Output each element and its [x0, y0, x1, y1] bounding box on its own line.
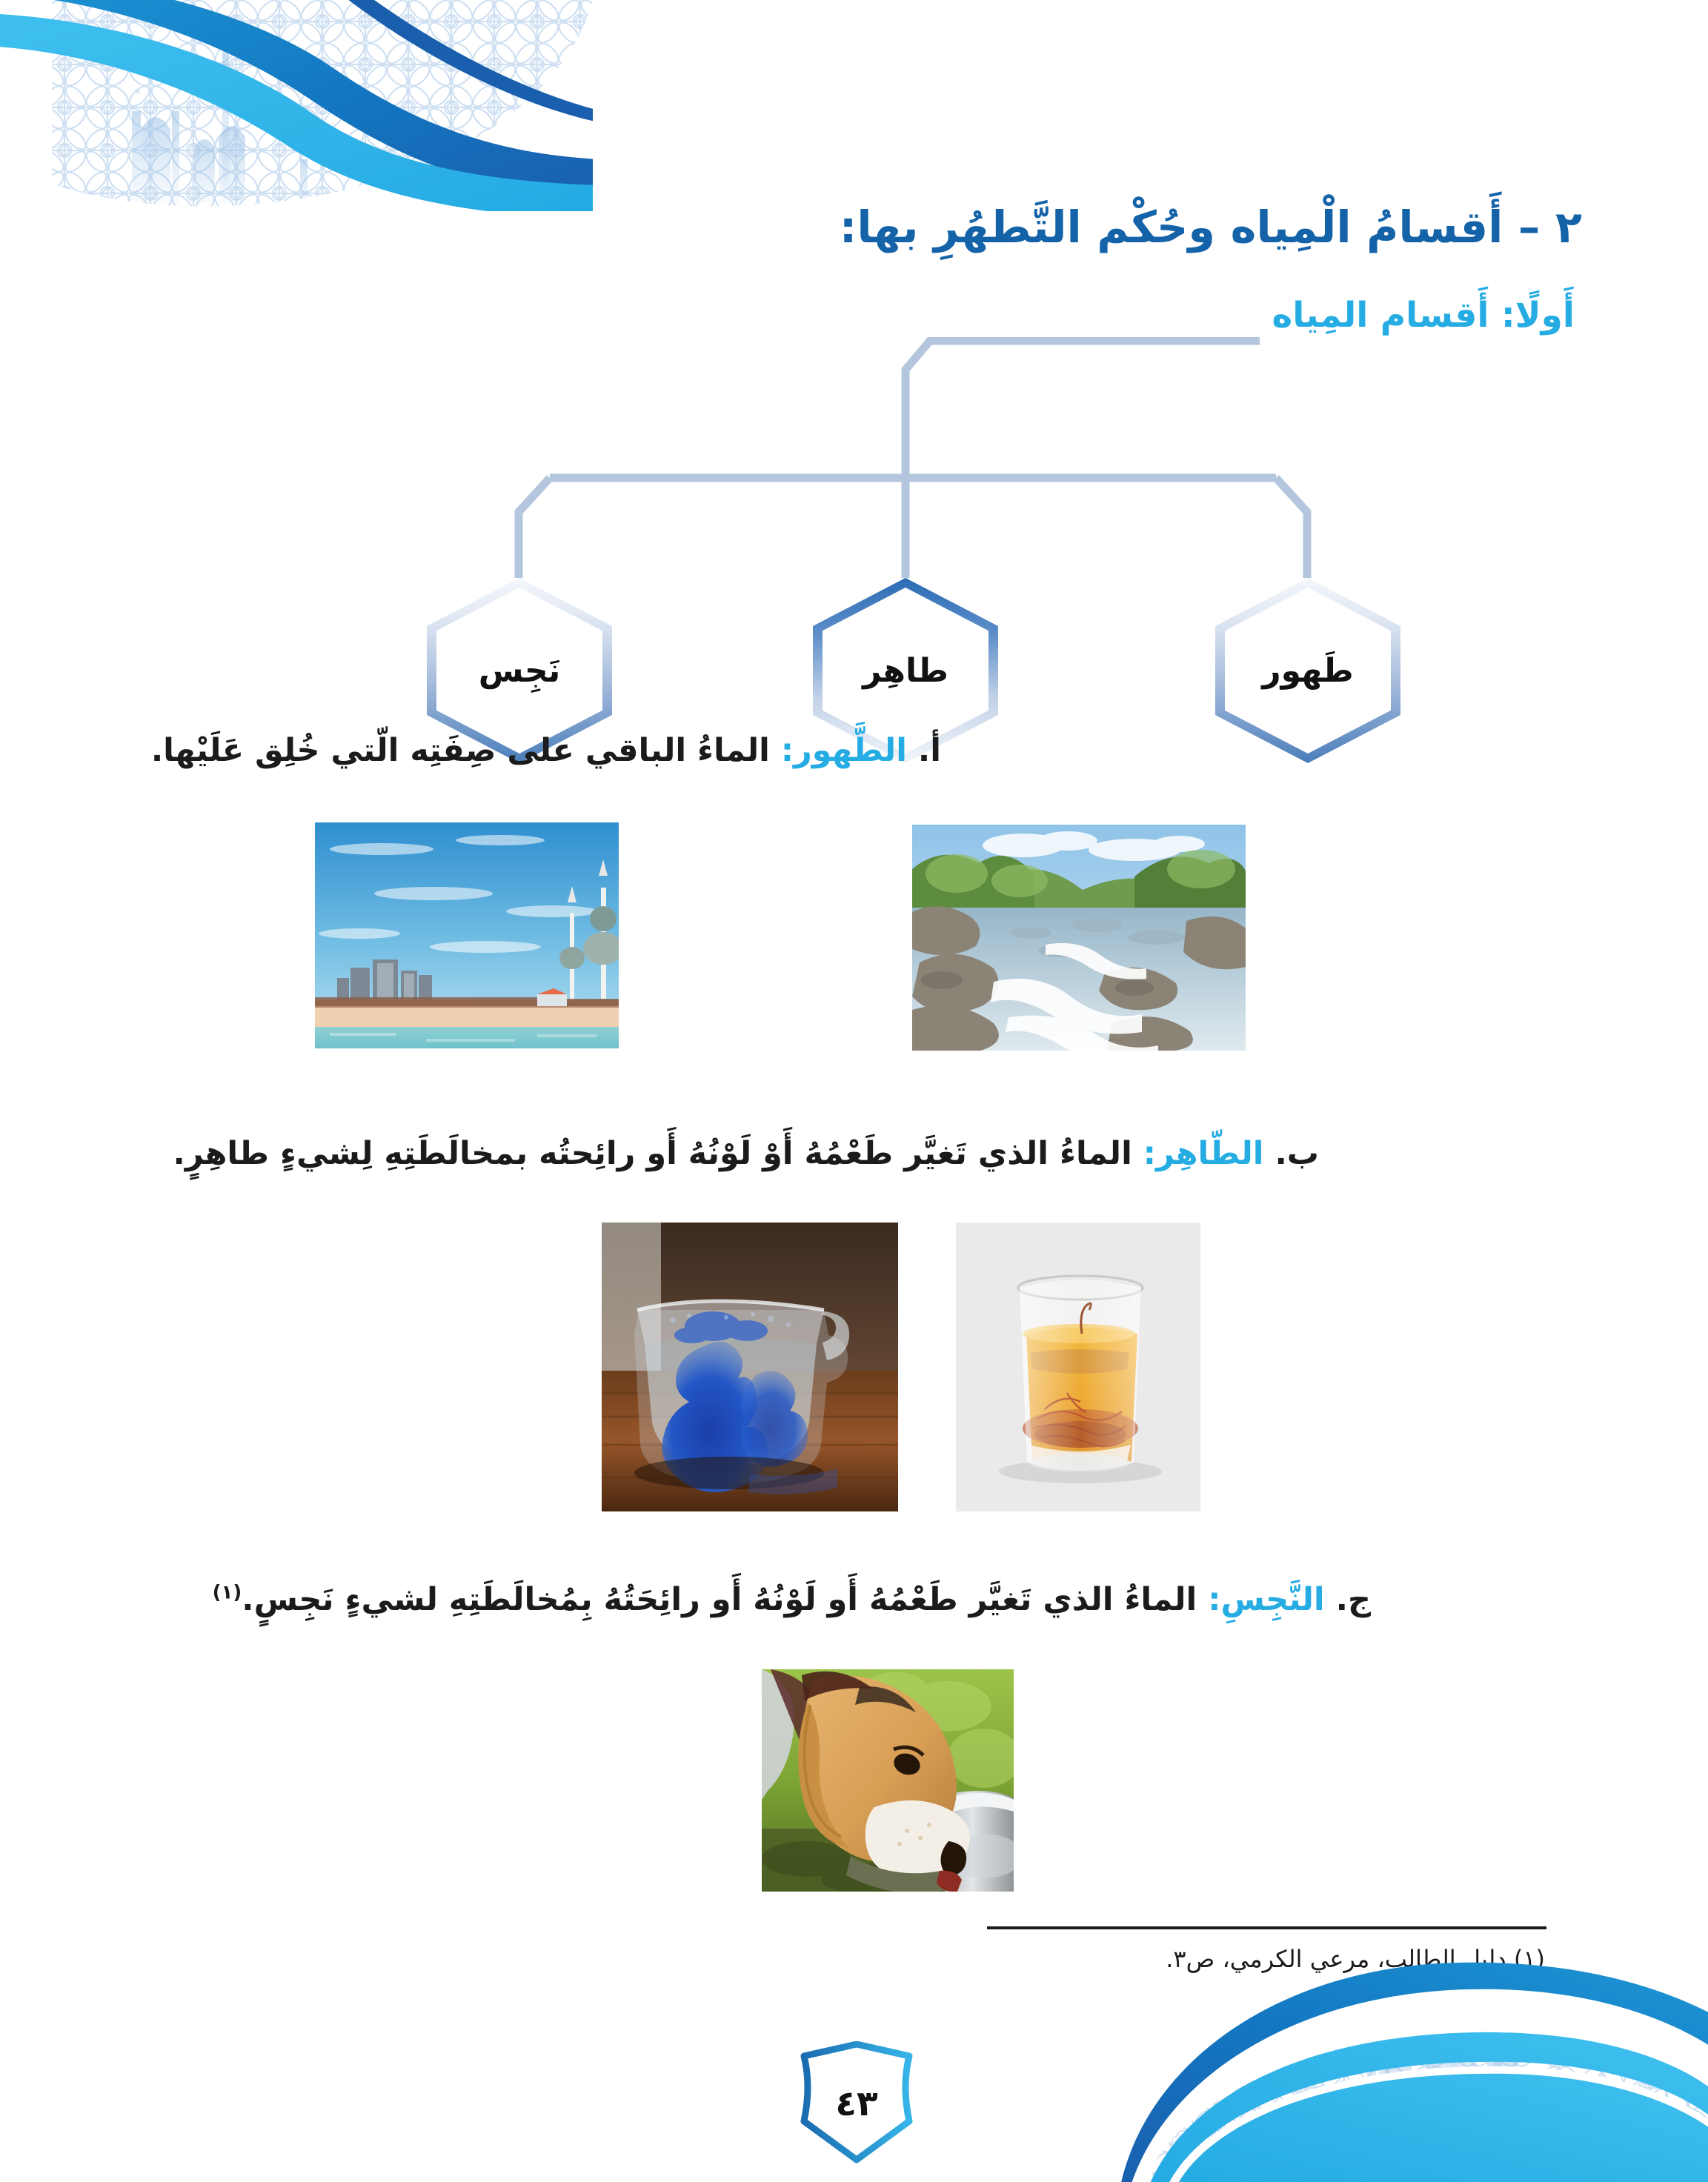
section-subtitle: أَولًا: أَقسام المِياه: [1272, 295, 1575, 336]
page-number: ٤٣: [779, 2041, 934, 2163]
blue-ink-in-water-photo: [602, 1223, 898, 1511]
bottom-right-ornament: [1108, 1937, 1708, 2182]
section-c-text: الماءُ الذي تَغيَّر طَعْمُهُ أَو لَوْنُه…: [242, 1581, 1208, 1618]
section-c-term: النَّجِسِ:: [1208, 1581, 1324, 1618]
section-a-text: الماءُ الباقي على صِفَتِه الّتي خُلِق عَ…: [151, 732, 781, 769]
section-b-text: الماءُ الذي تَغيَّر طَعْمُهُ أَوْ لَوْنُ…: [173, 1135, 1143, 1172]
section-b-term: الطّاهِر:: [1143, 1135, 1264, 1172]
saffron-water-glass-photo: [956, 1223, 1200, 1511]
footnote-divider: [987, 1926, 1546, 1929]
textbook-page: ٢ – أَقسامُ الْمِياه وحُكْم التَّطهُرِ ب…: [0, 0, 1708, 2182]
footnote-reference: (١): [213, 1582, 242, 1604]
river-rapids-photo: [912, 825, 1246, 1051]
section-b-paragraph: ب. الطّاهِر: الماءُ الذي تَغيَّر طَعْمُه…: [173, 1135, 1320, 1172]
water-types-diagram: طَهور طاهِر نَجِس: [0, 337, 1708, 708]
footnote-text: (١) دليل الطالب، مرعي الكرمي، ص٣.: [1166, 1945, 1545, 1973]
diagram-node-tahur[interactable]: طَهور: [1215, 578, 1400, 763]
section-a-marker: أ.: [918, 732, 941, 769]
page-number-badge: ٤٣: [779, 2041, 934, 2163]
section-a-term: الطَّهور:: [781, 732, 907, 769]
diagram-node-label: طَهور: [1215, 578, 1400, 763]
section-c-paragraph: ج. النَّجِسِ: الماءُ الذي تَغيَّر طَعْمُ…: [213, 1581, 1371, 1618]
kuwait-towers-beach-photo: [315, 822, 619, 1048]
dog-drinking-bowl-photo: [762, 1669, 1014, 1892]
section-c-marker: ج.: [1336, 1581, 1371, 1618]
section-b-marker: ب.: [1275, 1135, 1319, 1172]
section-a-paragraph: أ. الطَّهور: الماءُ الباقي على صِفَتِه ا…: [151, 732, 941, 769]
page-title: ٢ – أَقسامُ الْمِياه وحُكْم التَّطهُرِ ب…: [840, 202, 1582, 253]
top-left-ornament: [0, 0, 593, 211]
